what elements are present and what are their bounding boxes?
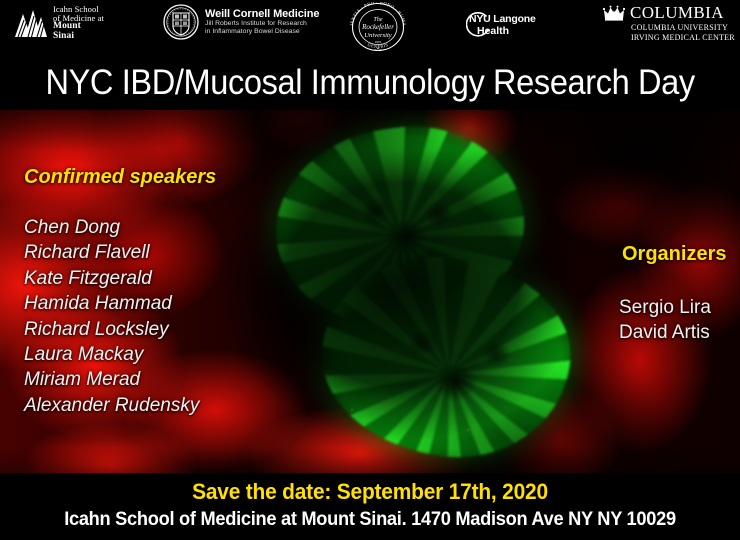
organizers-list: Sergio Lira David Artis [619,296,711,345]
logo-cornell-text: Weill Cornell Medicine Jill Roberts Inst… [205,8,319,37]
list-item: Sergio Lira [619,296,711,321]
list-item: Miriam Merad [24,367,199,392]
logo-rockefeller-university: SCIENTIA · PRO · BONO · HUMANI · GENERIS… [341,2,415,52]
confirmed-speakers-list: Chen Dong Richard Flavell Kate Fitzgeral… [24,215,199,418]
footer-band: Save the date: September 17th, 2020 Icah… [0,473,740,540]
logo-nyu-langone-health: NYU Langone Health [466,12,536,39]
logo-columbia-irving-medical-center: COLUMBIA COLUMBIA UNIVERSITY IRVING MEDI… [603,4,735,44]
logo-columbia-primary: COLUMBIA [603,4,735,21]
event-poster: Icahn School of Medicine at Mount Sinai … [0,0,740,540]
logo-cornell-line-3: in Inflammatory Bowel Disease [205,28,319,36]
logo-columbia-sub-1: COLUMBIA UNIVERSITY [631,23,735,33]
list-item: Alexander Rudensky [24,393,199,418]
cornell-seal-icon [163,4,199,40]
title-band: NYC IBD/Mucosal Immunology Research Day [0,55,740,110]
list-item: Hamida Hammad [24,291,199,316]
sponsor-logo-bar: Icahn School of Medicine at Mount Sinai … [0,0,740,55]
logo-nyu-line-1: NYU Langone [469,14,536,25]
logo-nyu-line-2: Health [469,26,536,37]
organizers-heading: Organizers [622,243,726,266]
list-item: Chen Dong [24,215,199,240]
logo-nyu-text: NYU Langone Health [469,14,536,37]
svg-text:~*~: ~*~ [374,48,382,52]
logo-cornell-line-1: Weill Cornell Medicine [205,8,319,21]
logo-cornell-line-2: Jill Roberts Institute for Research [205,20,319,28]
logo-icahn-line-4: Sinai [53,32,104,42]
list-item: David Artis [619,321,711,346]
rockefeller-seal-icon: SCIENTIA · PRO · BONO · HUMANI · GENERIS… [341,2,415,52]
list-item: Richard Flavell [24,240,199,265]
confirmed-speakers-heading: Confirmed speakers [24,166,216,189]
poster-title: NYC IBD/Mucosal Immunology Research Day [45,65,694,100]
svg-text:University: University [364,32,392,39]
svg-text:Rockefeller: Rockefeller [361,23,394,31]
logo-icahn-mount-sinai: Icahn School of Medicine at Mount Sinai [14,5,104,42]
list-item: Laura Mackay [24,342,199,367]
save-the-date-line: Save the date: September 17th, 2020 [19,479,722,505]
svg-text:1901: 1901 [375,40,382,44]
list-item: Richard Locksley [24,317,199,342]
logo-icahn-text: Icahn School of Medicine at Mount Sinai [53,5,104,42]
columbia-crown-icon [603,5,625,21]
list-item: Kate Fitzgerald [24,266,199,291]
logo-weill-cornell-medicine: Weill Cornell Medicine Jill Roberts Inst… [163,4,319,40]
logo-columbia-sub-2: IRVING MEDICAL CENTER [631,33,735,43]
logo-columbia-name: COLUMBIA [630,4,724,21]
venue-address-line: Icahn School of Medicine at Mount Sinai.… [15,509,725,532]
mountain-triangles-icon [14,8,48,38]
